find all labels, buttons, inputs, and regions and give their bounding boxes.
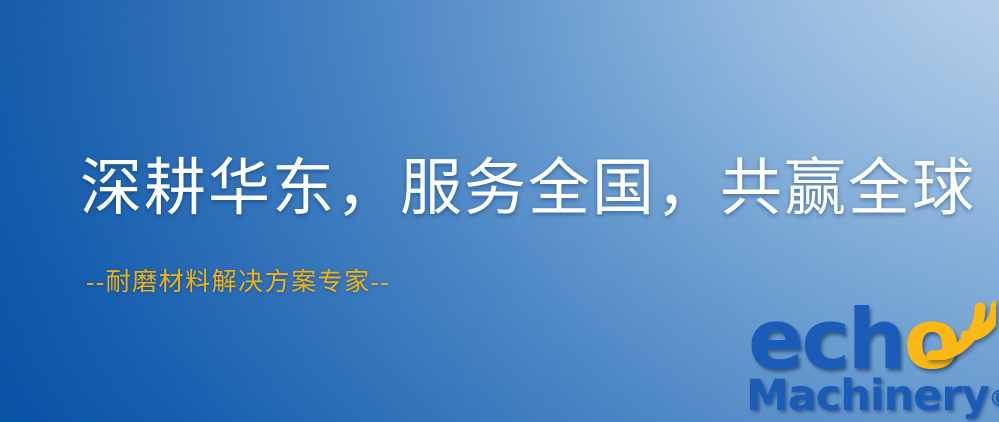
logo-tagline-text: Machinery [746, 371, 989, 421]
hero-banner: 深耕华东，服务全国，共赢全球 --耐磨材料解决方案专家-- echo Machi… [0, 0, 999, 422]
company-logo[interactable]: echo Machinery® [744, 296, 996, 422]
registered-trademark-icon: ® [989, 387, 999, 412]
logo-tagline: Machinery® [746, 372, 999, 422]
signal-waves-icon [918, 294, 996, 360]
banner-subtitle: --耐磨材料解决方案专家-- [86, 267, 390, 299]
banner-headline: 深耕华东，服务全国，共赢全球 [80, 152, 976, 226]
